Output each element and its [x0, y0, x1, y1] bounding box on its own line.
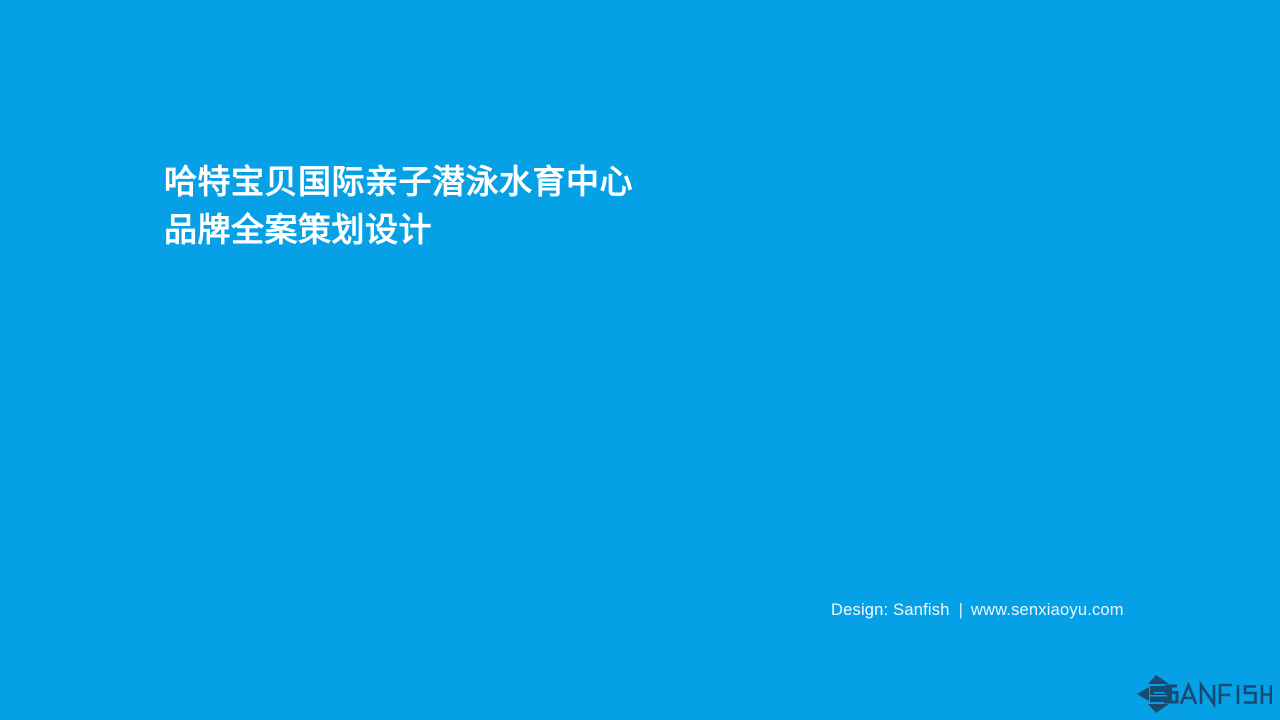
sanfish-logo — [1136, 673, 1272, 715]
title-slide: 哈特宝贝国际亲子潜泳水育中心 品牌全案策划设计 Design: Sanfish … — [0, 0, 1280, 720]
credit-designer: Design: Sanfish — [831, 599, 950, 621]
credit-separator: | — [950, 599, 971, 621]
sanfish-wordmark — [1164, 685, 1271, 704]
title-line-secondary: 品牌全案策划设计 — [164, 206, 784, 254]
title-line-primary: 哈特宝贝国际亲子潜泳水育中心 — [164, 158, 784, 206]
page-title: 哈特宝贝国际亲子潜泳水育中心 品牌全案策划设计 — [164, 158, 784, 254]
credit-line: Design: Sanfish | www.senxiaoyu.com — [831, 599, 1124, 621]
credit-website-url: www.senxiaoyu.com — [971, 599, 1124, 621]
